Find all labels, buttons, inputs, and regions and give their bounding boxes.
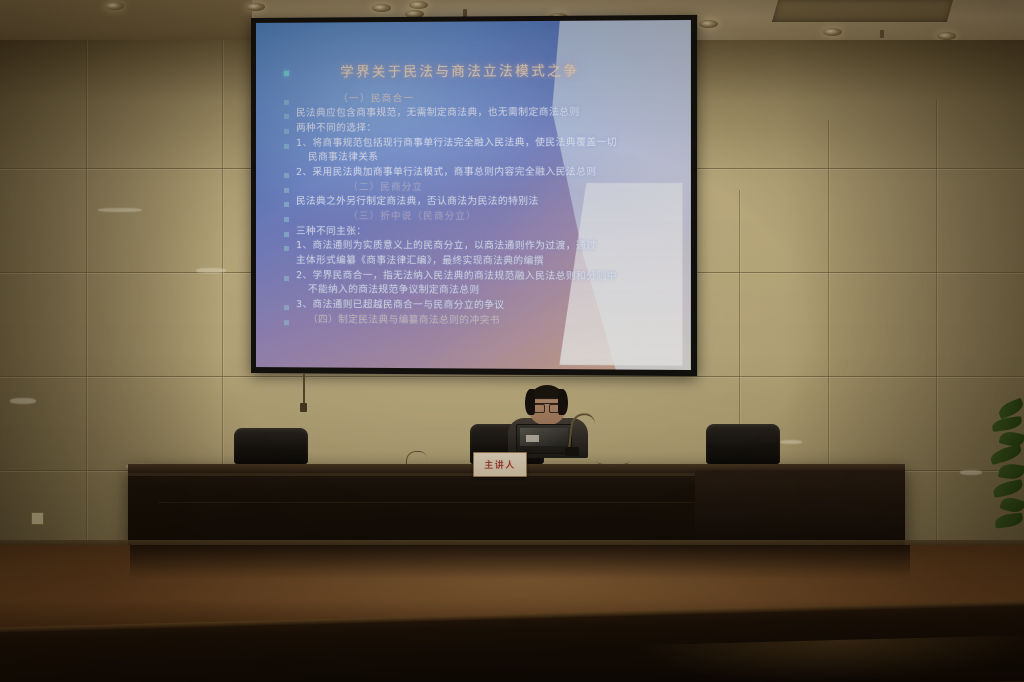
- projection-screen: 学界关于民法与商法立法模式之争 （一）民商合一 民法典应包含商事规范，无需制定商…: [251, 15, 697, 376]
- slide-line: 两种不同的选择：: [284, 122, 676, 136]
- bullet-icon: [284, 276, 289, 281]
- bullet-icon: [284, 202, 289, 207]
- slide-line-text: 不能纳入的商法规范争议制定商法总则: [296, 285, 480, 298]
- slide-line: 民法典之外另行制定商法典，否认商法为民法的特别法: [284, 196, 676, 209]
- slide-line-text: 民商事法律关系: [296, 152, 378, 165]
- bullet-icon: [284, 144, 289, 149]
- downlight-icon: [246, 3, 265, 11]
- desk-cable: [596, 455, 630, 466]
- sprinkler-icon: [880, 30, 884, 38]
- slide-line-text: 2、采用民法典加商事单行法模式，商事总则内容完全融入民法总则: [296, 167, 596, 180]
- floor-reflection: [130, 545, 910, 579]
- slide-line: 民法典应包含商事规范，无需制定商法典，也无需制定商法总则: [284, 107, 676, 121]
- screen-surface: 学界关于民法与商法立法模式之争 （一）民商合一 民法典应包含商事规范，无需制定商…: [256, 20, 691, 370]
- plant-leaf: [994, 513, 1023, 529]
- slide-line: （一）民商合一: [284, 92, 676, 106]
- bullet-icon: [284, 71, 289, 76]
- wall-scuff: [780, 440, 802, 444]
- slide-content: 学界关于民法与商法立法模式之争 （一）民商合一 民法典应包含商事规范，无需制定商…: [256, 20, 691, 370]
- wall-seam-vertical: [936, 100, 937, 545]
- slide-line-text: （一）民商合一: [296, 93, 414, 106]
- bullet-icon: [284, 217, 289, 222]
- laptop: [516, 424, 572, 454]
- slide-line: 不能纳入的商法规范争议制定商法总则: [284, 284, 676, 298]
- chair-right: [706, 424, 780, 464]
- bullet-icon: [284, 320, 289, 325]
- wall-scuff: [10, 398, 36, 404]
- plant-leaf: [998, 462, 1024, 480]
- slide-line-text: 3、商法通则已超越民商合一与民商分立的争议: [296, 299, 505, 313]
- bullet-icon: [284, 114, 289, 119]
- plant-leaf: [991, 416, 1022, 432]
- slide-title: 学界关于民法与商法立法模式之争: [296, 63, 579, 82]
- nameplate: 主讲人: [473, 452, 527, 477]
- slide-line-text: （三）折中说（民商分立）: [296, 211, 477, 224]
- power-outlet: [31, 512, 44, 525]
- bullet-icon: [284, 129, 289, 134]
- microphone-center: [565, 414, 593, 456]
- slide-line-text: 2、学界民商合一，指无法纳入民法典的商法规范融入民法总则和分则中: [296, 270, 617, 284]
- bullet-icon: [284, 173, 289, 178]
- slide-line-text: 两种不同的选择：: [296, 123, 376, 136]
- slide-line: 2、学界民商合一，指无法纳入民法典的商法规范融入民法总则和分则中: [284, 270, 676, 284]
- potted-plant: [990, 396, 1024, 548]
- wall-scuff: [98, 208, 142, 212]
- chair-left: [234, 428, 308, 464]
- wall-scuff: [960, 470, 982, 475]
- slide-line-text: （二）民商分立: [296, 182, 423, 195]
- screen-cord-weight: [300, 403, 307, 412]
- ceiling-soffit-left: [0, 0, 252, 44]
- slide-line: （三）折中说（民商分立）: [284, 211, 676, 224]
- slide-line: 1、商法通则为实质意义上的民商分立，以商法通则作为过渡，通过: [284, 240, 676, 254]
- slide-line: 民商事法律关系: [284, 152, 676, 165]
- slide-title-line: 学界关于民法与商法立法模式之争: [284, 63, 676, 83]
- wall-seam-vertical: [86, 40, 87, 545]
- slide-line-text: 1、商法通则为实质意义上的民商分立，以商法通则作为过渡，通过: [296, 240, 596, 253]
- slide-line-text: （四）制定民法典与编纂商法总则的冲突书: [296, 314, 500, 328]
- nameplate-text: 主讲人: [484, 458, 516, 471]
- slide-line-text: 主体形式编纂《商事法律汇编》，最终实现商法典的编撰: [296, 255, 544, 268]
- lecture-hall-photo: 学界关于民法与商法立法模式之争 （一）民商合一 民法典应包含商事规范，无需制定商…: [0, 0, 1024, 682]
- slide-line: 2、采用民法典加商事单行法模式，商事总则内容完全融入民法总则: [284, 167, 676, 180]
- wall-seam-horizontal: [0, 376, 1024, 377]
- downlight-icon: [409, 1, 428, 9]
- laptop-screen: [520, 428, 568, 446]
- slide-line-text: 1、将商事规范包括现行商事单行法完全融入民法典，使民法典覆盖一切: [296, 137, 617, 150]
- downlight-icon: [105, 2, 124, 10]
- air-vent-icon: [772, 0, 953, 22]
- slide-line-text: 民法典之外另行制定商法典，否认商法为民法的特别法: [296, 196, 539, 209]
- bullet-icon: [284, 246, 289, 251]
- slide-line: 3、商法通则已超越民商合一与民商分立的争议: [284, 299, 676, 313]
- slide-line-text: 三种不同主张：: [296, 226, 366, 239]
- downlight-icon: [823, 28, 842, 36]
- glasses-icon: [530, 403, 564, 411]
- downlight-icon: [372, 4, 391, 12]
- bullet-icon: [284, 100, 289, 105]
- microphone-base: [565, 447, 579, 456]
- slide-line: （四）制定民法典与编纂商法总则的冲突书: [284, 314, 676, 329]
- plant-leaf: [992, 479, 1024, 498]
- bullet-icon: [284, 188, 289, 193]
- slide-line: 主体形式编纂《商事法律汇编》，最终实现商法典的编撰: [284, 255, 676, 269]
- downlight-icon: [937, 32, 956, 40]
- bullet-icon: [284, 305, 289, 310]
- slide-line: 三种不同主张：: [284, 226, 676, 239]
- laptop-logo: [526, 435, 539, 442]
- bullet-icon: [284, 232, 289, 237]
- slide-line: （二）民商分立: [284, 182, 676, 195]
- plant-leaf: [989, 444, 1023, 465]
- microphone-gooseneck: [568, 412, 596, 450]
- slide-line-text: 民法典应包含商事规范，无需制定商法典，也无需制定商法总则: [296, 107, 580, 121]
- downlight-icon: [699, 20, 718, 28]
- screen-cord: [303, 373, 305, 407]
- slide-line: 1、将商事规范包括现行商事单行法完全融入民法典，使民法典覆盖一切: [284, 137, 676, 151]
- wall-scuff: [196, 268, 226, 273]
